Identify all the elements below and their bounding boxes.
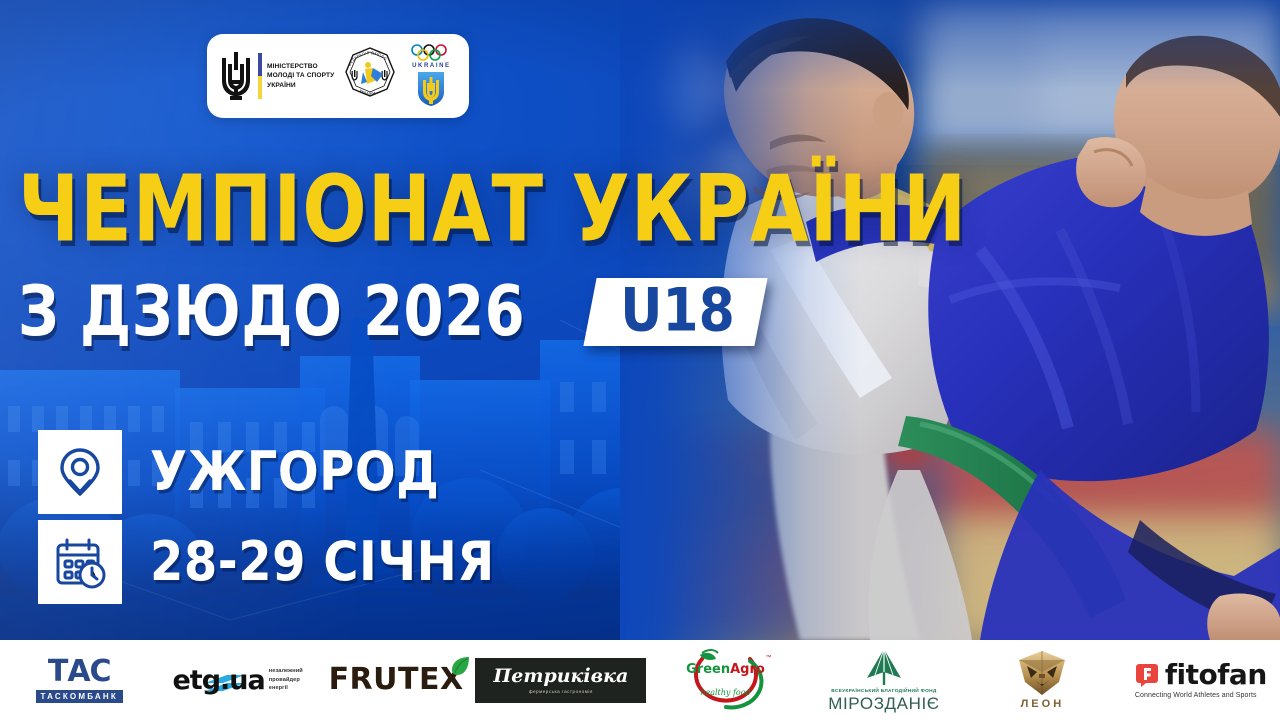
calendar-clock-icon: [53, 535, 107, 589]
sponsor-leon[interactable]: ЛЕОН: [963, 640, 1121, 720]
etg-tagline-1: незалежний: [269, 667, 303, 675]
lion-head-icon: [1015, 650, 1069, 696]
sponsor-bar: ТАС ТАСКОМБАНК etg.ua незалежний провайд…: [0, 640, 1280, 720]
frutex-wordmark: FRUTEX: [329, 665, 464, 695]
location-icon-box: [38, 430, 122, 514]
greenagro-circle-icon: [672, 647, 780, 713]
poster-title: ЧЕМПІОНАТ УКРАЇНИ: [18, 166, 728, 240]
etg-name: etg: [173, 665, 221, 696]
leaf-icon: [450, 656, 470, 676]
sponsor-petrykivka[interactable]: Петриківка фермерська гастрономія: [475, 640, 646, 720]
judo-federation-logo: ФЕДЕРАЦІЯ ДЗЮДО УКРАЇНИ: [340, 46, 400, 106]
greenagro-trademark: ™: [766, 655, 772, 661]
fitofan-wordmark: fitofan: [1165, 661, 1267, 689]
location-label: УЖГОРОД: [150, 440, 439, 504]
petrykivka-wordmark: Петриківка: [493, 667, 628, 686]
age-category-badge: U18: [584, 278, 768, 346]
leon-wordmark: ЛЕОН: [1021, 698, 1065, 710]
event-poster: 0 0 3:0: [0, 0, 1280, 720]
etg-tagline-2: провайдер: [269, 676, 303, 684]
etg-wordmark: etg.ua: [173, 667, 265, 694]
etg-tagline: незалежний провайдер енергії: [269, 667, 303, 692]
date-label: 28-29 СІЧНЯ: [150, 530, 495, 594]
flag-accent-bar: [258, 53, 262, 99]
tas-wordmark: ТАС: [48, 657, 111, 687]
mirozdanie-wordmark: МІРОЗДАНІЄ: [828, 695, 939, 712]
etg-tagline-3: енергії: [269, 684, 303, 692]
map-pin-icon: [53, 445, 107, 499]
ministry-line-3: УКРАЇНИ: [267, 81, 334, 90]
poster-subtitle-row: З ДЗЮДО 2026 U18: [18, 278, 761, 346]
greenagro-tagline: healthy food: [700, 688, 750, 697]
location-row: УЖГОРОД: [38, 430, 495, 514]
sponsor-mirozdanie[interactable]: ВСЕУКРАЇНСЬКИЙ БЛАГОДІЙНИЙ ФОНД МІРОЗДАН…: [805, 640, 963, 720]
fitofan-badge-icon: [1135, 663, 1159, 687]
date-icon-box: [38, 520, 122, 604]
ministry-line-2: МОЛОДІ ТА СПОРТУ: [267, 71, 334, 80]
greenagro-wordmark: GreenAgro: [686, 663, 765, 676]
noc-shield-icon: [416, 70, 446, 108]
etg-suffix: .ua: [220, 665, 265, 696]
event-details: УЖГОРОД: [38, 430, 495, 604]
ministry-line-1: МІНІСТЕРСТВО: [267, 62, 334, 71]
taskombank-label: ТАСКОМБАНК: [36, 690, 123, 703]
sponsor-frutex[interactable]: FRUTEX: [317, 640, 475, 720]
mirozdanie-leaf-icon: [863, 648, 905, 686]
age-category-label: U18: [621, 281, 736, 340]
sponsor-fitofan[interactable]: fitofan Connecting World Athletes and Sp…: [1122, 640, 1280, 720]
fitofan-tagline: Connecting World Athletes and Sports: [1135, 692, 1257, 699]
petrykivka-tagline: фермерська гастрономія: [529, 689, 593, 694]
olympic-committee-logo: UKRAINE: [406, 42, 456, 110]
sponsor-etg-ua[interactable]: etg.ua незалежний провайдер енергії: [158, 640, 316, 720]
olympic-country-label: UKRAINE: [412, 63, 451, 69]
greenagro-green: Green: [686, 662, 730, 677]
title-line-2: З ДЗЮДО 2026: [18, 277, 525, 347]
trident-icon: [219, 50, 253, 102]
ministry-name: МІНІСТЕРСТВО МОЛОДІ ТА СПОРТУ УКРАЇНИ: [267, 62, 334, 89]
ministry-logo: МІНІСТЕРСТВО МОЛОДІ ТА СПОРТУ УКРАЇНИ: [219, 50, 334, 102]
sponsor-taskombank[interactable]: ТАС ТАСКОМБАНК: [0, 640, 158, 720]
olympic-rings-icon: [409, 44, 453, 62]
date-row: 28-29 СІЧНЯ: [38, 520, 495, 604]
title-line-1: ЧЕМПІОНАТ УКРАЇНИ: [18, 166, 707, 253]
organization-logos-panel: МІНІСТЕРСТВО МОЛОДІ ТА СПОРТУ УКРАЇНИ ФЕ…: [207, 34, 469, 118]
etg-name-parts: etg.ua: [173, 665, 265, 696]
greenagro-agro: Agro: [730, 662, 765, 677]
sponsor-greenagro[interactable]: ™ GreenAgro healthy food: [646, 640, 804, 720]
